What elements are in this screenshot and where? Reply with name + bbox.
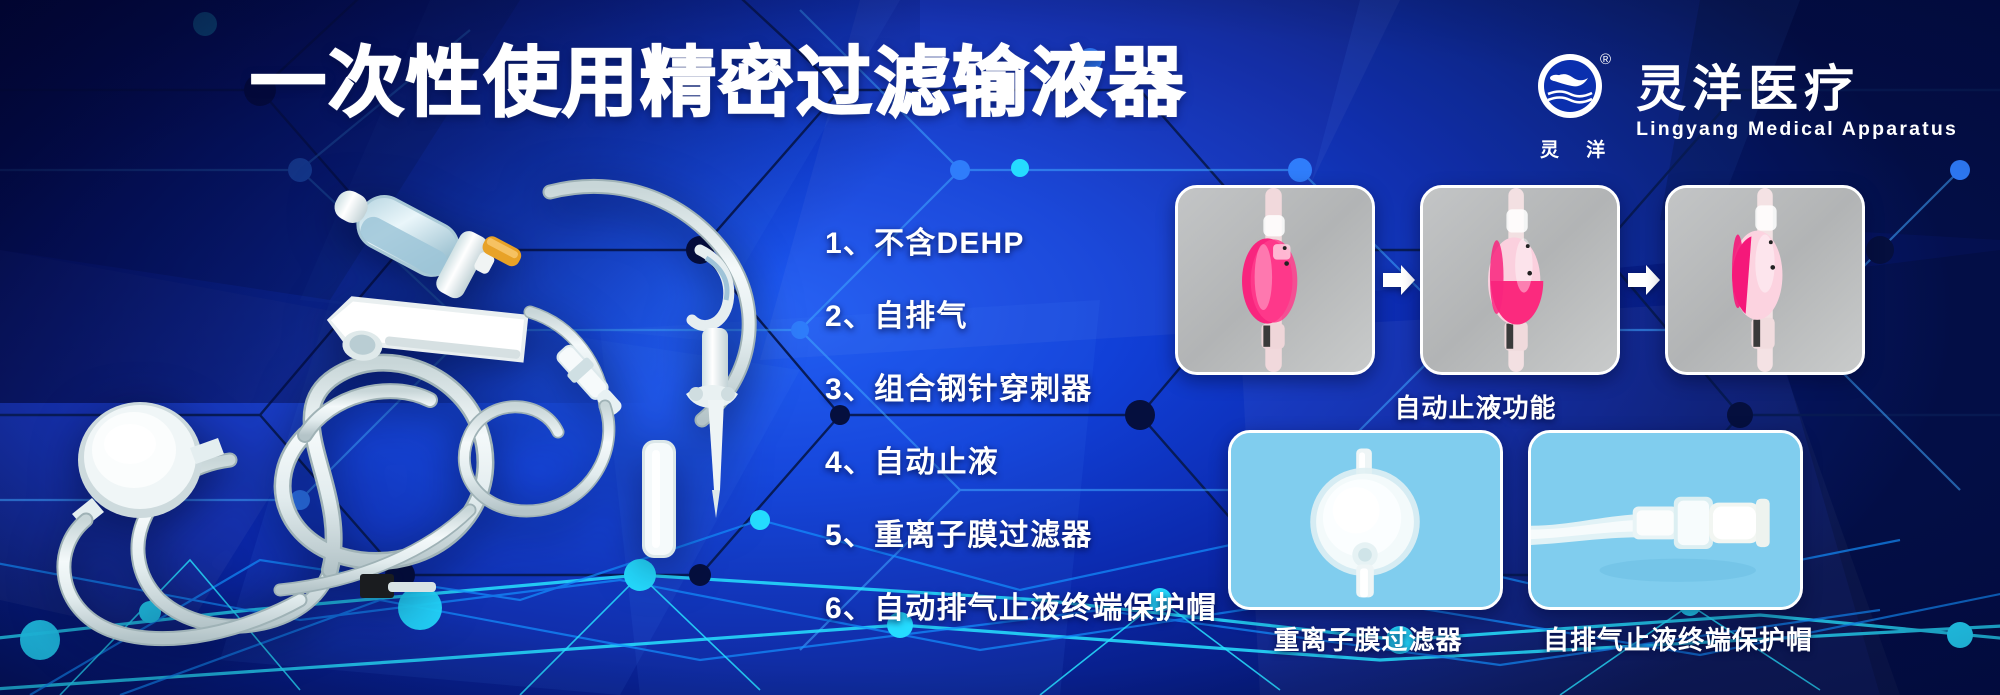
product-panel-cap (1528, 430, 1803, 610)
logo-char-yang: 洋 (1586, 135, 1606, 162)
hero-protective-sheath (642, 440, 676, 558)
feature-item-6: 6、自动排气止液终端保护帽 (825, 583, 1217, 627)
feature-item-1: 1、不含DEHP (825, 218, 1217, 262)
hero-product-image (30, 130, 820, 660)
registered-mark-text: ® (1600, 51, 1611, 68)
demo-panel-step-2 (1420, 185, 1620, 375)
demo-panel-step-1 (1175, 185, 1375, 375)
logo-emblem-icon: ® (1530, 42, 1616, 133)
logo-sub-characters: 灵 洋 (1540, 135, 1606, 162)
arrow-right-icon-2 (1622, 258, 1666, 302)
brand-wordmark: 灵洋医疗 Lingyang Medical Apparatus (1636, 63, 1958, 141)
brand-name-cn: 灵洋医疗 (1636, 63, 1958, 115)
arrow-right-icon-1 (1377, 258, 1421, 302)
hero-round-filter (72, 402, 224, 528)
feature-item-2: 2、自排气 (825, 291, 1217, 335)
feature-item-5: 5、重离子膜过滤器 (825, 510, 1217, 554)
page-title: 一次性使用精密过滤输液器 (250, 46, 1310, 122)
logo-char-ling: 灵 (1540, 135, 1560, 162)
product-panel-filter-caption: 重离子膜过滤器 (1228, 620, 1508, 657)
brand-logo: ® 灵 洋 灵洋医疗 Lingyang Medical Apparatus (1530, 42, 1958, 162)
hero-flat-clip (360, 574, 436, 598)
product-panel-filter (1228, 430, 1503, 610)
feature-item-4: 4、自动止液 (825, 437, 1217, 481)
brand-name-en: Lingyang Medical Apparatus (1636, 118, 1958, 141)
feature-item-3: 3、组合钢针穿刺器 (825, 364, 1217, 408)
hero-drip-chamber (321, 163, 524, 318)
demo-panel-step-3 (1665, 185, 1865, 375)
feature-list: 1、不含DEHP 2、自排气 3、组合钢针穿刺器 4、自动止液 5、重离子膜过滤… (825, 218, 1217, 627)
logo-mark: ® 灵 洋 (1530, 42, 1616, 162)
product-panel-cap-caption: 自排气止液终端保护帽 (1528, 620, 1828, 657)
product-banner: 一次性使用精密过滤输液器 ® 灵 洋 灵洋医疗 Ling (0, 0, 2000, 695)
demo-sequence-caption: 自动止液功能 (1188, 388, 1763, 425)
